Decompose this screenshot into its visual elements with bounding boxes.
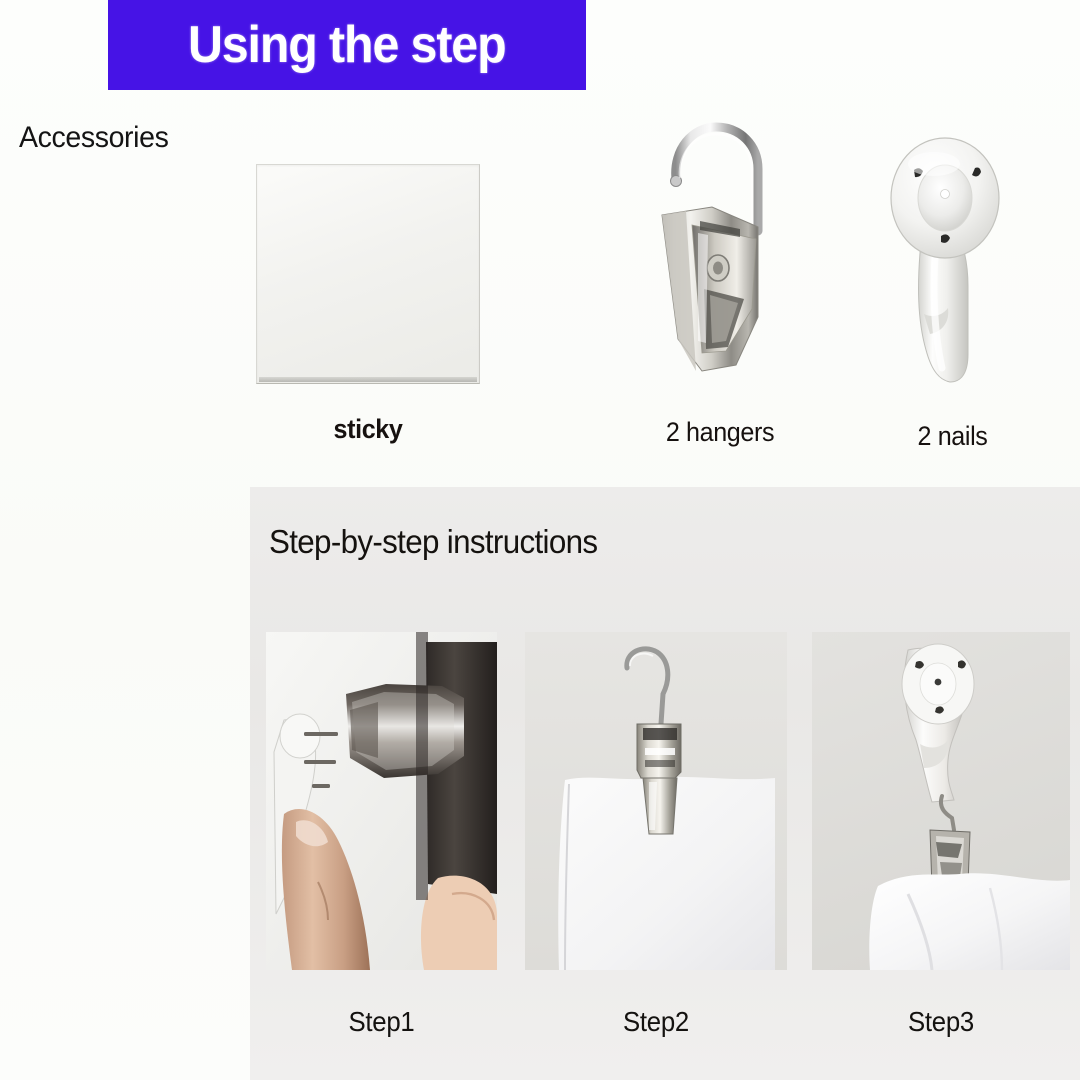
accessories-heading: Accessories — [19, 121, 168, 155]
instructions-heading: Step-by-step instructions — [269, 523, 597, 561]
step-1-caption: Step1 — [275, 1006, 488, 1038]
product-instruction-page: Using the step Accessories sticky — [0, 0, 1080, 1080]
accessory-caption-sticky: sticky — [264, 414, 472, 445]
step-3-photo — [812, 632, 1070, 970]
wall-hook-nail-icon — [876, 136, 1026, 391]
step-2-photo — [525, 632, 787, 970]
step-3-caption: Step3 — [822, 1006, 1059, 1038]
accessory-caption-nails: 2 nails — [866, 421, 1038, 452]
title-banner: Using the step — [108, 0, 586, 90]
step-1-photo — [266, 632, 497, 970]
page-title: Using the step — [188, 19, 506, 71]
sticky-pad-icon — [256, 164, 480, 384]
step-2-caption: Step2 — [535, 1006, 776, 1038]
accessory-caption-hangers: 2 hangers — [608, 417, 831, 448]
hanger-clip-icon — [640, 103, 800, 393]
